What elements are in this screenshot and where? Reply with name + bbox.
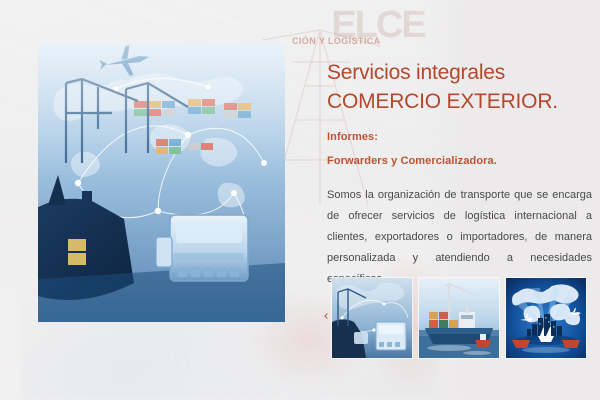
informes-label: Informes: — [327, 131, 378, 143]
slide-heading: Servicios integrales COMERCIO EXTERIOR. — [327, 58, 582, 116]
hero-image[interactable] — [38, 43, 285, 322]
slider-stage: ELCE CIÓN Y LOGÍSTICA GESTIÓN Somos un e… — [0, 0, 600, 400]
thumbnail-2[interactable] — [419, 278, 499, 358]
carousel-prev-button[interactable]: ‹ — [319, 308, 333, 326]
carousel-thumbnails — [332, 278, 586, 358]
thumbnail-1[interactable] — [332, 278, 412, 358]
slide-body-text: Somos la organización de transporte que … — [327, 185, 592, 290]
thumbnail-3[interactable] — [506, 278, 586, 358]
forwarders-label: Forwarders y Comercializadora. — [327, 155, 497, 167]
brand-watermark-tagline: CIÓN Y LOGÍSTICA — [292, 36, 381, 46]
